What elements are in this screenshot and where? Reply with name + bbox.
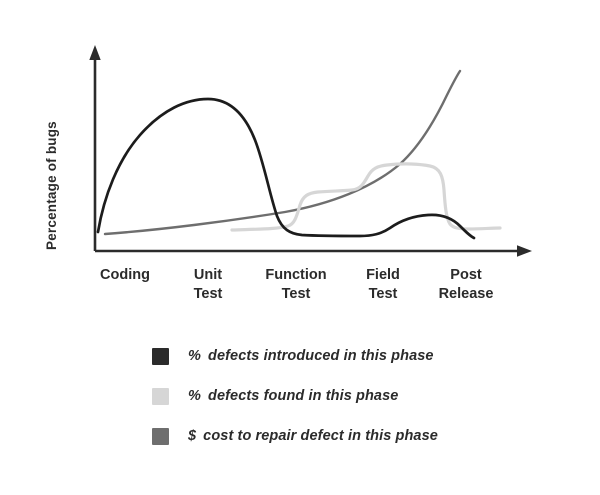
legend-swatch-defects-found	[152, 388, 169, 405]
chart-canvas: Percentage of bugs Coding Unit Test Func…	[0, 0, 600, 495]
x-tick-field-test-line2: Test	[366, 285, 400, 304]
legend-label-cost-to-repair: $cost to repair defect in this phase	[188, 428, 438, 444]
legend-symbol-dollar-cost: $	[188, 428, 196, 444]
x-tick-post-release: Post Release	[439, 266, 494, 303]
x-tick-unit-test-line1: Unit	[194, 266, 223, 285]
x-tick-coding: Coding	[100, 266, 150, 285]
legend-text-defects-found: defects found in this phase	[208, 388, 398, 404]
legend-symbol-percent-found: %	[188, 388, 201, 404]
legend-swatch-defects-introduced	[152, 348, 169, 365]
x-tick-function-test-line2: Test	[265, 285, 326, 304]
x-tick-unit-test-line2: Test	[194, 285, 223, 304]
x-tick-function-test: Function Test	[265, 266, 326, 303]
x-tick-field-test: Field Test	[366, 266, 400, 303]
series-cost-to-repair-line	[105, 71, 460, 234]
legend-label-defects-introduced: %defects introduced in this phase	[188, 348, 434, 364]
y-axis-label: Percentage of bugs	[44, 70, 68, 250]
legend-item-defects-introduced: %defects introduced in this phase	[152, 343, 552, 369]
x-tick-field-test-line1: Field	[366, 266, 400, 285]
x-tick-post-release-line2: Release	[439, 285, 494, 304]
legend-symbol-percent-introduced: %	[188, 348, 201, 364]
legend-swatch-cost-to-repair	[152, 428, 169, 445]
legend-label-defects-found: %defects found in this phase	[188, 388, 398, 404]
chart-legend: %defects introduced in this phase %defec…	[152, 343, 552, 463]
x-tick-coding-line1: Coding	[100, 266, 150, 285]
x-tick-function-test-line1: Function	[265, 266, 326, 285]
legend-text-cost-to-repair: cost to repair defect in this phase	[203, 428, 438, 444]
x-tick-post-release-line1: Post	[439, 266, 494, 285]
legend-text-defects-introduced: defects introduced in this phase	[208, 348, 434, 364]
x-tick-unit-test: Unit Test	[194, 266, 223, 303]
series-defects-introduced-line	[98, 99, 474, 238]
legend-item-defects-found: %defects found in this phase	[152, 383, 552, 409]
x-axis-tick-labels: Coding Unit Test Function Test Field Tes…	[0, 266, 600, 314]
legend-item-cost-to-repair: $cost to repair defect in this phase	[152, 423, 552, 449]
x-axis-arrow-icon	[517, 245, 532, 256]
y-axis-arrow-icon	[89, 45, 100, 60]
